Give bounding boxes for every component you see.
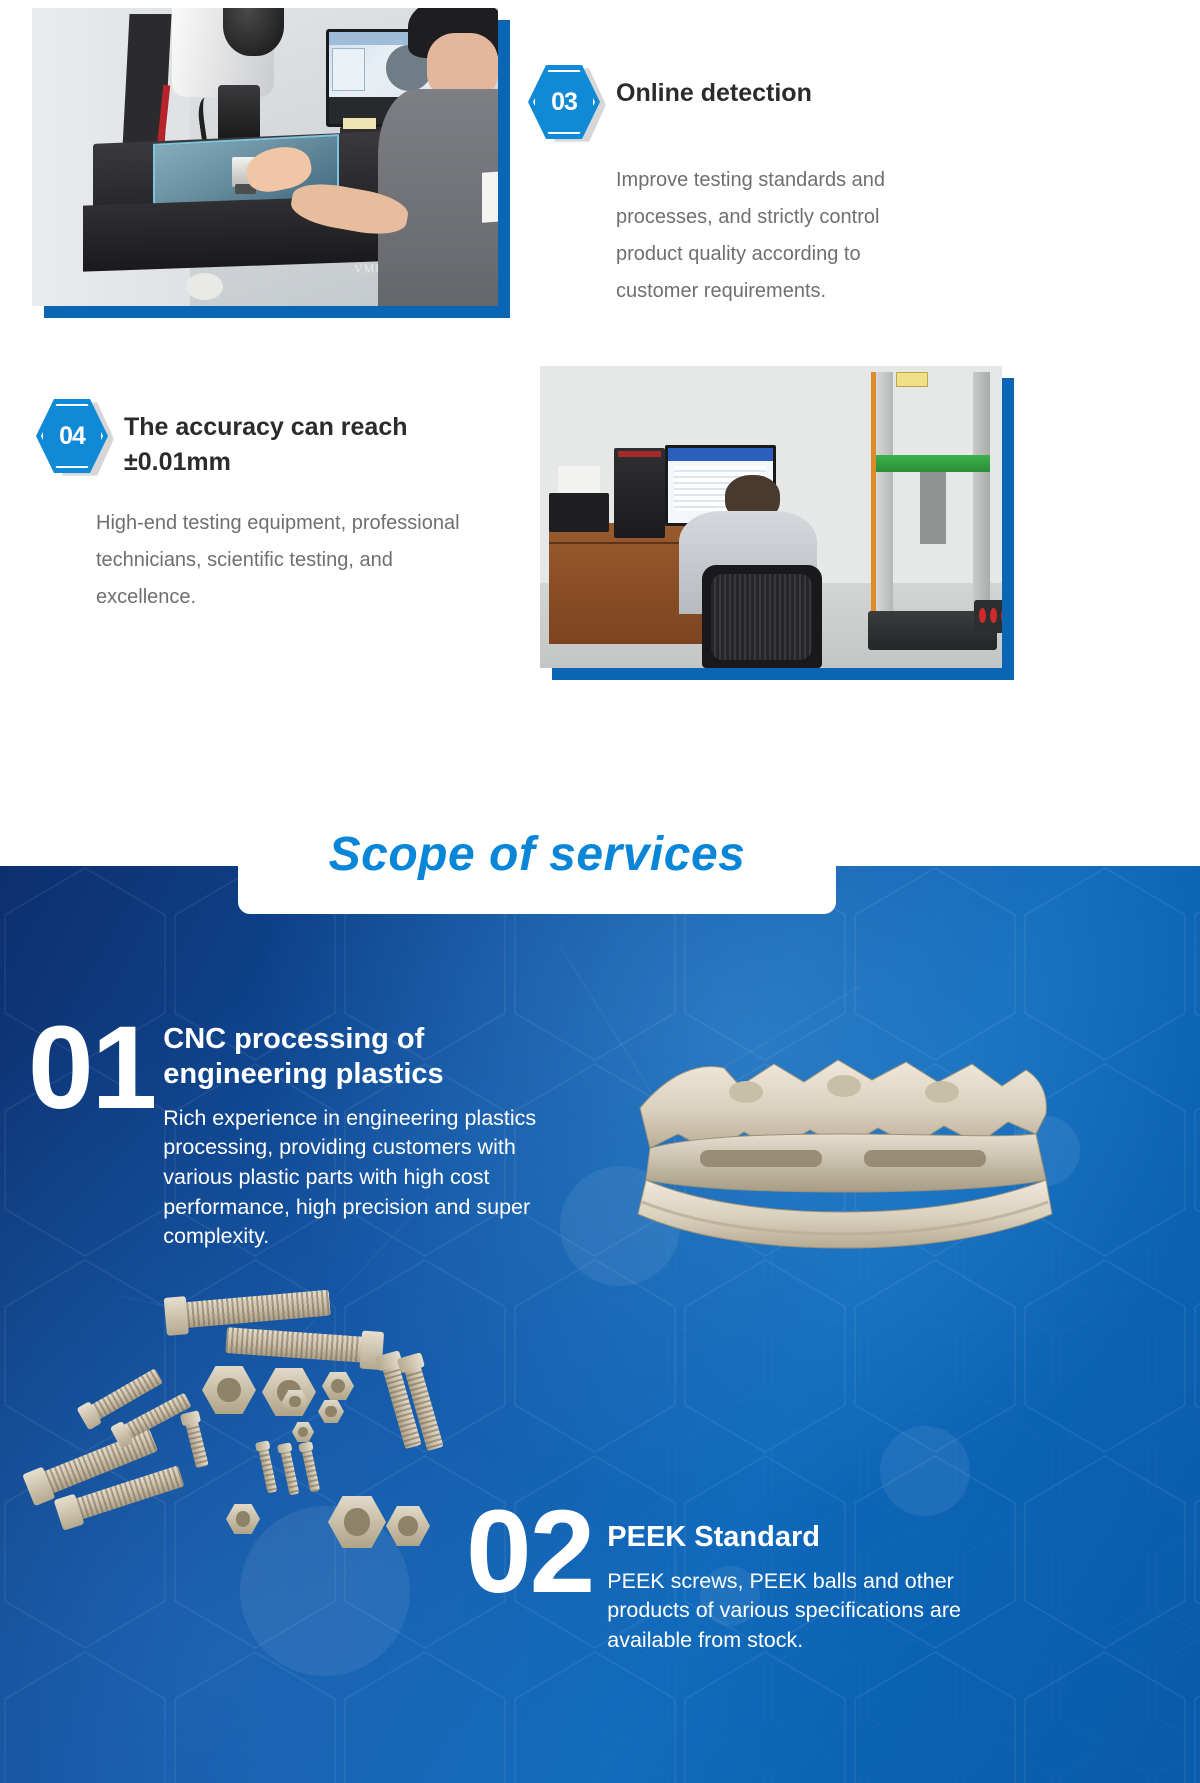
service-title: PEEK Standard [607,1520,987,1555]
service-block-02: 02 PEEK Standard PEEK screws, PEEK balls… [466,1498,1026,1656]
feature-title: The accuracy can reach ±0.01mm [124,396,484,479]
service-body: PEEK screws, PEEK balls and other produc… [607,1567,987,1656]
feature-block-04: 04 The accuracy can reach ±0.01mm High-e… [36,396,536,616]
service-number: 01 [28,1014,155,1123]
feature-04-header: 04 The accuracy can reach ±0.01mm [36,396,536,479]
accuracy-photo [540,366,1002,668]
peek-machined-part-image [628,1052,1058,1272]
feature-block-03: 03 Online detection Improve testing stan… [528,62,1028,310]
scope-banner-card: Scope of services [238,794,836,914]
service-block-01: 01 CNC processing of engineering plastic… [28,1014,628,1252]
service-title: CNC processing of engineering plastics [163,1022,593,1092]
feature-number: 03 [528,65,600,139]
scope-banner-title: Scope of services [329,827,746,882]
photo-tensile-testing-lab [540,366,1002,668]
hexagon-badge-icon: 03 [528,62,600,142]
feature-03-header: 03 Online detection [528,62,1028,142]
online-detection-photo: VML300 [32,8,498,306]
feature-title: Online detection [616,62,812,111]
photo-vision-measuring-machine: VML300 [32,8,498,306]
feature-body: High-end testing equipment, professional… [36,505,466,616]
feature-body: Improve testing standards and processes,… [528,162,928,310]
peek-fasteners-image [30,1268,460,1558]
hexagon-badge-icon: 04 [36,396,108,476]
features-section: VML300 03 Online detection Improve testi… [0,0,1200,866]
feature-number: 04 [36,399,108,473]
service-number: 02 [466,1498,593,1607]
service-body: Rich experience in engineering plastics … [163,1104,563,1252]
